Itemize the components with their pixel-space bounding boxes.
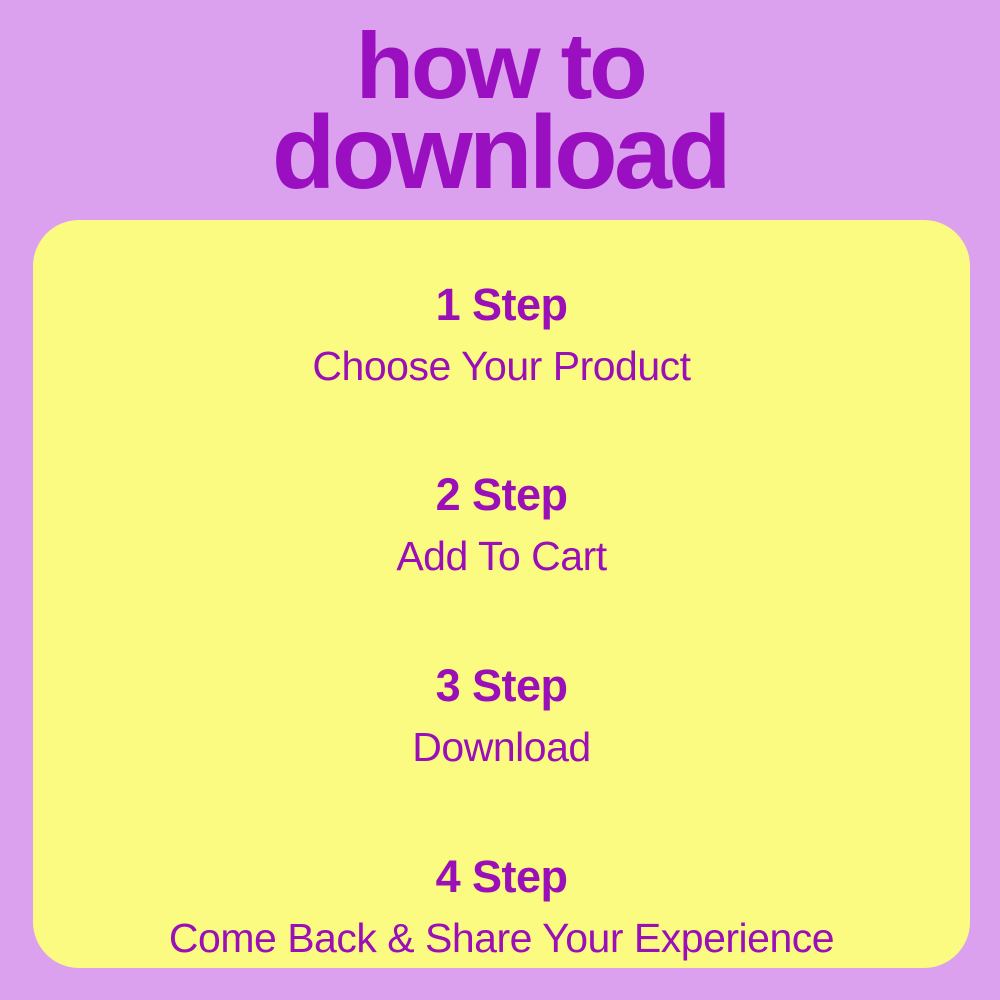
step-heading-4: 4 Step: [33, 854, 970, 899]
steps-card: 1 Step Choose Your Product 2 Step Add To…: [33, 220, 970, 968]
step-heading-3: 3 Step: [33, 663, 970, 708]
step-description-1: Choose Your Product: [33, 346, 970, 387]
step-heading-2: 2 Step: [33, 472, 970, 517]
step-item-2: 2 Step Add To Cart: [33, 472, 970, 577]
step-item-3: 3 Step Download: [33, 663, 970, 768]
poster-canvas: how to download 1 Step Choose Your Produ…: [0, 0, 1000, 1000]
step-description-2: Add To Cart: [33, 536, 970, 577]
step-item-4: 4 Step Come Back & Share Your Experience: [33, 854, 970, 959]
step-description-4: Come Back & Share Your Experience: [33, 918, 970, 959]
step-heading-1: 1 Step: [33, 282, 970, 327]
step-item-1: 1 Step Choose Your Product: [33, 282, 970, 387]
step-description-3: Download: [33, 727, 970, 768]
title-line-2: download: [0, 109, 1000, 198]
poster-title: how to download: [0, 26, 1000, 198]
